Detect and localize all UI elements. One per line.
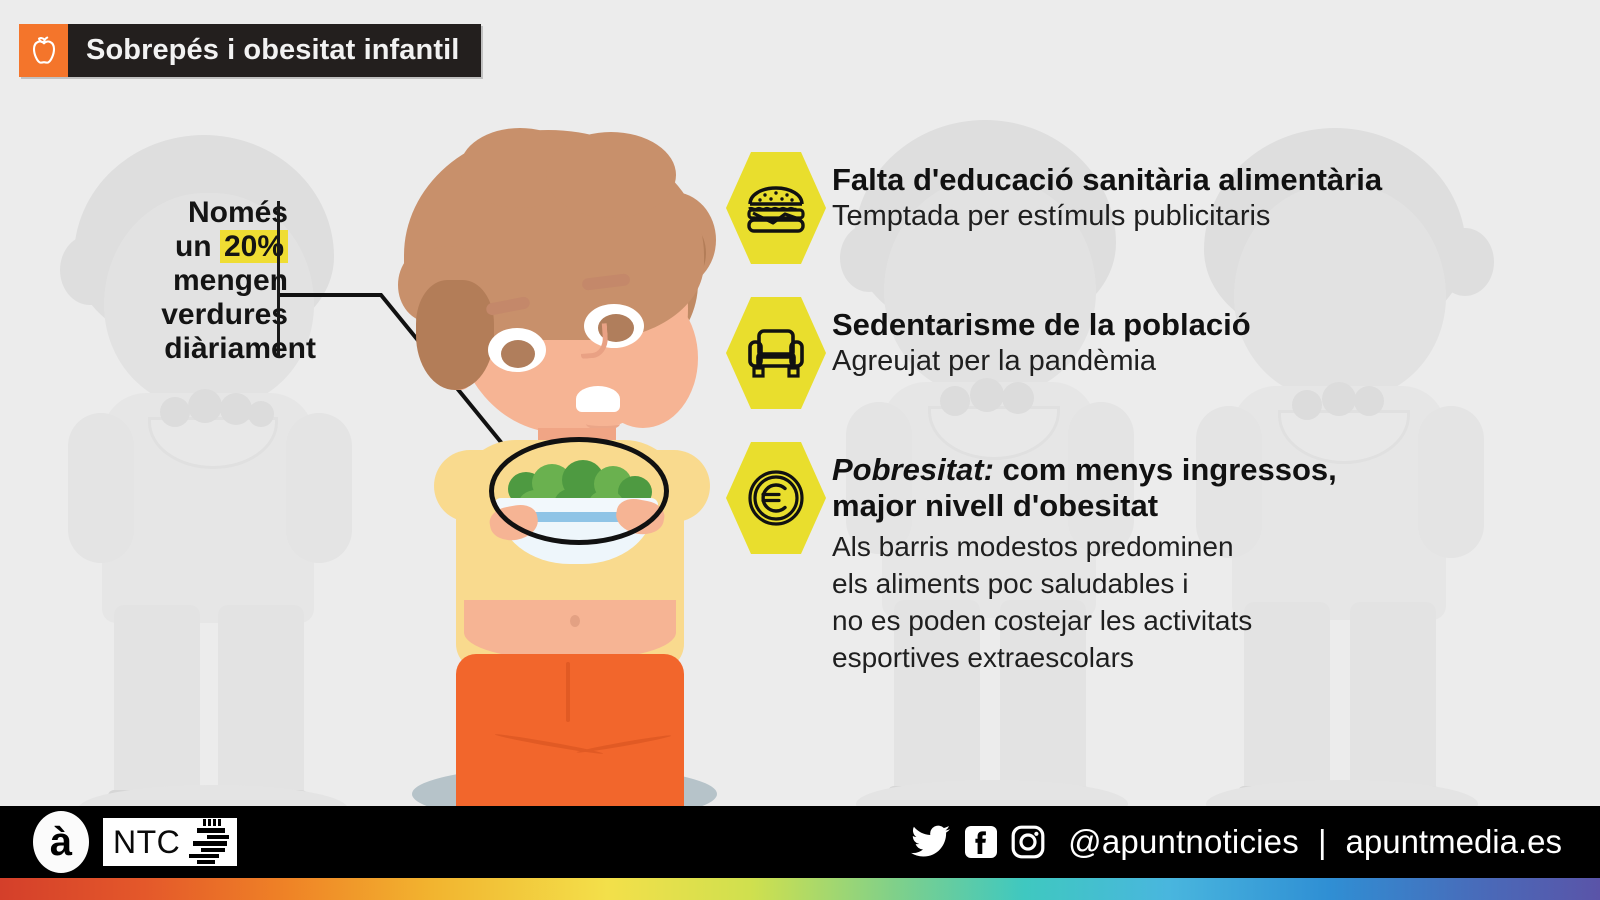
ntc-label: NTC: [113, 824, 180, 861]
factor-item-poverty[interactable]: Pobresitat: com menys ingressos, major n…: [726, 442, 1337, 676]
callout-line-4: verdures: [38, 298, 288, 332]
callout-line-3: mengen: [38, 264, 288, 298]
callout-line-1: Només: [38, 196, 288, 230]
factor-heading: Pobresitat: com menys ingressos,: [832, 452, 1337, 488]
factor-heading: Falta d'educació sanitària alimentària: [832, 162, 1382, 198]
twitter-icon[interactable]: [911, 825, 951, 859]
armchair-icon: [726, 297, 826, 409]
broadcaster-brand: à NTC: [33, 811, 237, 873]
hair-shadow-left: [416, 280, 494, 390]
callout-vertical-rule: [277, 201, 280, 357]
factor-heading-emphasis: Pobresitat:: [832, 452, 994, 487]
ntc-logo: NTC: [103, 818, 237, 866]
callout-line-2: un 20%: [38, 230, 288, 264]
infographic-canvas: Sobrepés i obesitat infantil Només un 20…: [0, 0, 1600, 900]
title-bar: Sobrepés i obesitat infantil: [19, 24, 481, 77]
instagram-icon[interactable]: [1011, 825, 1045, 859]
footer-separator: |: [1318, 823, 1327, 861]
euro-coin-icon: [726, 442, 826, 554]
rainbow-strip: [0, 878, 1600, 900]
factor-subtitle: Agreujat per la pandèmia: [832, 343, 1251, 379]
pants-seam: [566, 662, 570, 722]
facebook-icon[interactable]: [964, 825, 998, 859]
pupil-left: [501, 340, 535, 368]
hair-tuft-2: [546, 132, 676, 218]
factor-body-line-3: no es poden costejar les activitats: [832, 602, 1337, 639]
exposed-belly: [464, 600, 676, 660]
bowl-zoom-highlight: [489, 437, 669, 545]
burger-icon: [726, 152, 826, 264]
social-links: @apuntnoticies | apuntmedia.es: [911, 823, 1562, 861]
website-url[interactable]: apuntmedia.es: [1346, 823, 1562, 861]
factor-heading-rest: com menys ingressos,: [994, 452, 1337, 487]
navel: [570, 615, 580, 627]
callout-statistic: Només un 20% mengen verdures diàriament: [38, 196, 288, 366]
factor-item-sedentarism[interactable]: Sedentarisme de la població Agreujat per…: [726, 297, 1251, 409]
social-handle[interactable]: @apuntnoticies: [1068, 823, 1299, 861]
mouth: [576, 386, 620, 412]
factor-heading-line2: major nivell d'obesitat: [832, 488, 1337, 524]
factor-body-line-2: els aliments poc saludables i: [832, 565, 1337, 602]
factor-subtitle: Temptada per estímuls publicitaris: [832, 198, 1382, 234]
factor-body-line-4: esportives extraescolars: [832, 639, 1337, 676]
footer-bar: à NTC: [0, 806, 1600, 878]
apunt-logo: à: [33, 811, 89, 873]
factor-heading: Sedentarisme de la població: [832, 307, 1251, 343]
factor-body-line-1: Als barris modestos predominen: [832, 528, 1337, 565]
callout-line-5: diàriament: [38, 332, 316, 366]
page-title: Sobrepés i obesitat infantil: [68, 24, 481, 77]
glitch-bars-icon: [187, 818, 231, 866]
callout-line-2-prefix: un: [175, 230, 212, 263]
apple-icon: [19, 24, 68, 77]
factor-item-education[interactable]: Falta d'educació sanitària alimentària T…: [726, 152, 1382, 264]
